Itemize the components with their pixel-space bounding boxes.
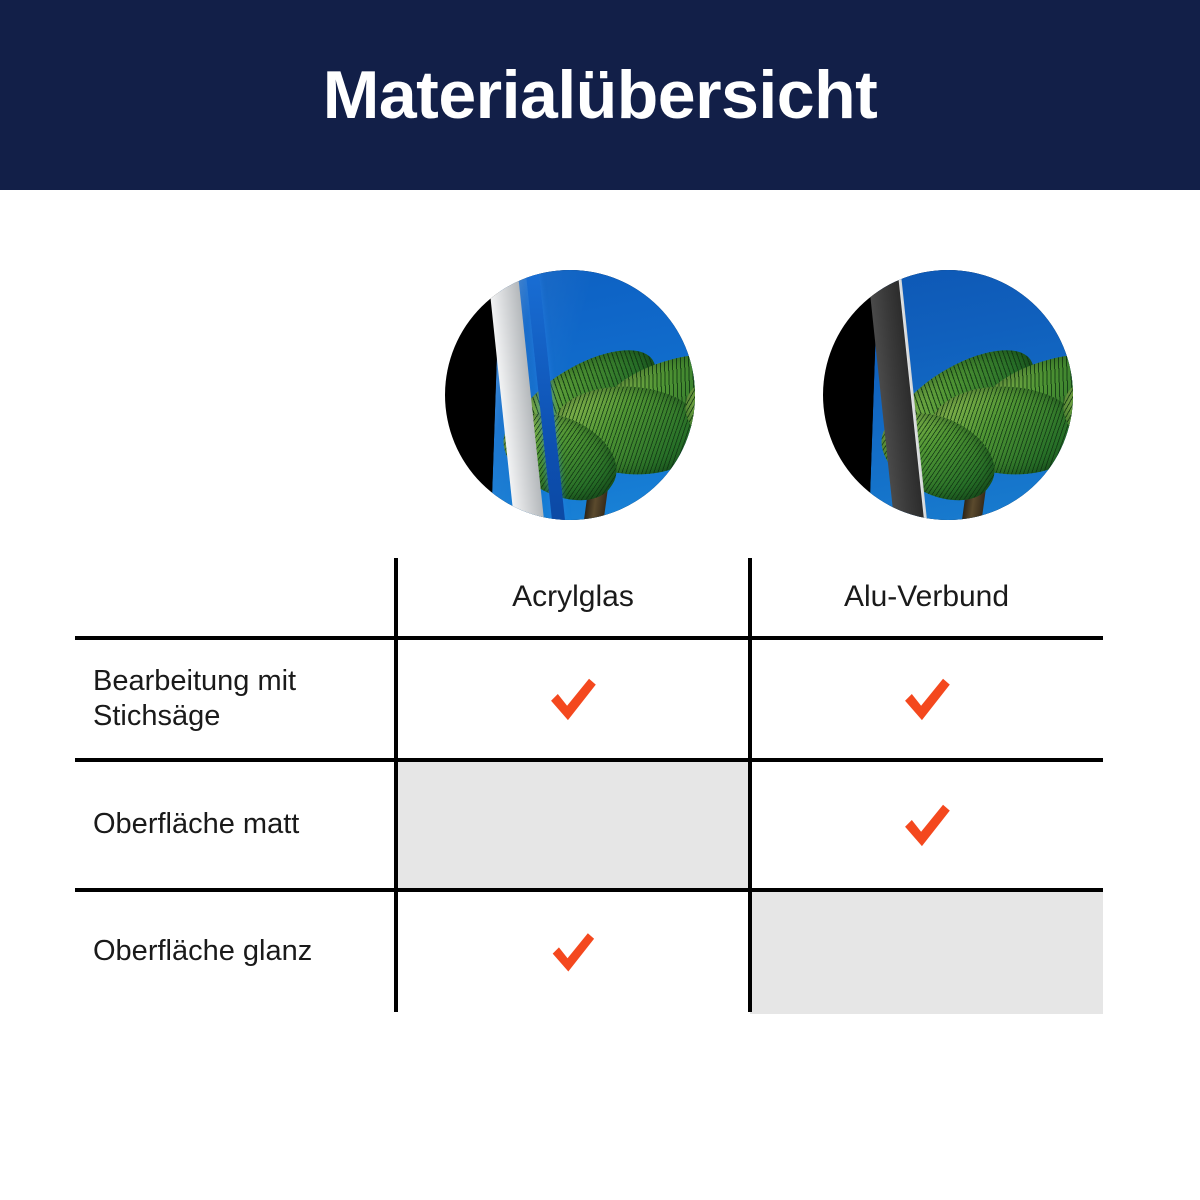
cell-matt-alu-verbund [750, 760, 1103, 890]
table-row: Bearbeitung mit Stichsäge [75, 638, 396, 760]
checkmark-icon [900, 798, 954, 852]
table-divider-row-2 [75, 888, 1103, 892]
row-label-oberflaeche-matt: Oberfläche matt [93, 807, 299, 842]
material-comparison-table: Acrylglas Alu-Verbund Bearbeitung mit St… [75, 556, 1103, 1014]
table-row: Oberfläche matt [75, 760, 396, 890]
table-divider-column-2 [748, 558, 752, 1012]
row-label-bearbeitung-stichsaege: Bearbeitung mit Stichsäge [93, 664, 296, 735]
table-divider-row-1 [75, 758, 1103, 762]
acrylic-glass-panel-photo [445, 270, 695, 520]
checkmark-icon [548, 927, 598, 977]
table-row: Oberfläche glanz [75, 890, 396, 1014]
row-label-oberflaeche-glanz: Oberfläche glanz [93, 934, 312, 969]
aluminium-composite-panel-photo [823, 270, 1073, 520]
page-title: Materialübersicht [0, 0, 1200, 190]
checkmark-icon [900, 672, 954, 726]
checkmark-icon [546, 672, 600, 726]
cell-bearbeitung-alu-verbund [750, 638, 1103, 760]
cell-glanz-acrylglas [396, 890, 750, 1014]
acrylglas-thumbnail [445, 270, 695, 520]
column-header-acrylglas: Acrylglas [396, 556, 750, 638]
table-divider-header [75, 636, 1103, 640]
header-banner: Materialübersicht [0, 0, 1200, 190]
cell-bearbeitung-acrylglas [396, 638, 750, 760]
column-header-alu-verbund: Alu-Verbund [750, 556, 1103, 638]
cell-matt-acrylglas [396, 760, 750, 890]
table-divider-column-1 [394, 558, 398, 1012]
cell-glanz-alu-verbund [750, 890, 1103, 1014]
table-corner-cell [75, 556, 396, 638]
alu-verbund-thumbnail [823, 270, 1073, 520]
